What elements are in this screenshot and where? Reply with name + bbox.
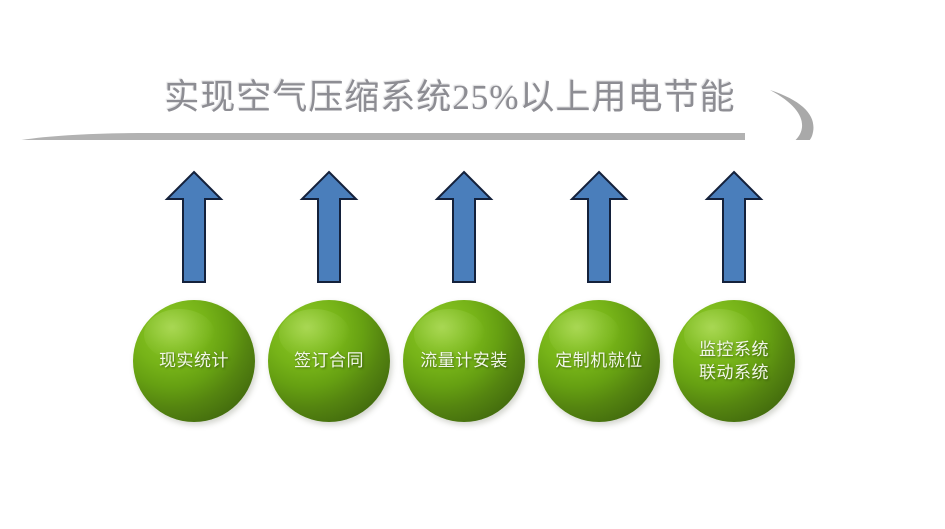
step-label-2: 签订合同 <box>268 300 390 422</box>
step-circle-5[interactable]: 监控系统 联动系统 <box>673 300 795 422</box>
up-arrow-icon <box>704 168 764 286</box>
step-label-line2: 联动系统 <box>699 362 769 384</box>
process-step-5[interactable]: 监控系统 联动系统 <box>673 168 795 423</box>
process-step-3[interactable]: 流量计安装 <box>403 168 525 423</box>
slide-canvas: 实现空气压缩系统25%以上用电节能 现实统计 <box>0 0 945 529</box>
title-banner: 实现空气压缩系统25%以上用电节能 <box>0 30 945 140</box>
process-steps-row: 现实统计 签订合同 <box>133 168 813 423</box>
step-label-3: 流量计安装 <box>403 300 525 422</box>
step-circle-3[interactable]: 流量计安装 <box>403 300 525 422</box>
step-label-4: 定制机就位 <box>538 300 660 422</box>
step-circle-2[interactable]: 签订合同 <box>268 300 390 422</box>
process-step-1[interactable]: 现实统计 <box>133 168 255 423</box>
up-arrow-icon <box>299 168 359 286</box>
up-arrow-icon <box>569 168 629 286</box>
step-label-line1: 流量计安装 <box>420 350 508 372</box>
page-title: 实现空气压缩系统25%以上用电节能 <box>150 76 750 120</box>
step-label-line1: 监控系统 <box>699 339 769 361</box>
step-label-line1: 现实统计 <box>159 350 229 372</box>
step-label-1: 现实统计 <box>133 300 255 422</box>
process-step-2[interactable]: 签订合同 <box>268 168 390 423</box>
step-circle-4[interactable]: 定制机就位 <box>538 300 660 422</box>
step-circle-1[interactable]: 现实统计 <box>133 300 255 422</box>
step-label-line1: 定制机就位 <box>555 350 643 372</box>
step-label-5: 监控系统 联动系统 <box>673 300 795 422</box>
process-step-4[interactable]: 定制机就位 <box>538 168 660 423</box>
up-arrow-icon <box>164 168 224 286</box>
step-label-line1: 签订合同 <box>294 350 364 372</box>
up-arrow-icon <box>434 168 494 286</box>
